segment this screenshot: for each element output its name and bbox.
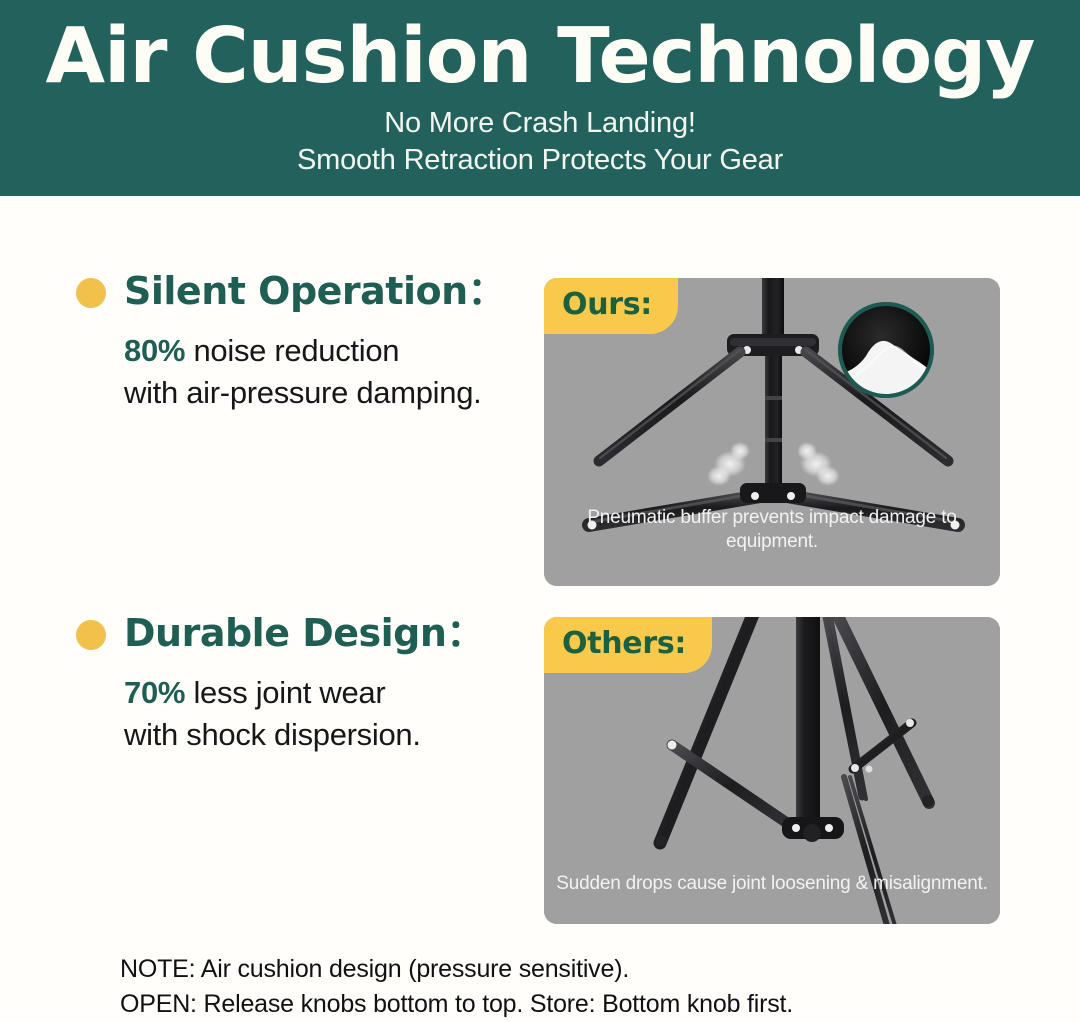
feature-description-line2: with air-pressure damping. bbox=[124, 375, 481, 410]
feature-block-silent-operation: Silent Operation： 80% noise reduction wi… bbox=[76, 268, 546, 414]
feature-heading-row: Silent Operation： bbox=[76, 268, 546, 314]
header-banner: Air Cushion Technology No More Crash Lan… bbox=[0, 0, 1080, 196]
feature-description: 70% less joint wear with shock dispersio… bbox=[124, 672, 546, 756]
header-subtitle-2: Smooth Retraction Protects Your Gear bbox=[0, 142, 1080, 179]
page-title: Air Cushion Technology bbox=[0, 0, 1080, 100]
feature-stat: 70% bbox=[124, 675, 185, 710]
footer-notes: NOTE: Air cushion design (pressure sensi… bbox=[120, 952, 980, 1022]
panel-caption: Pneumatic buffer prevents impact damage … bbox=[544, 506, 1000, 554]
header-subtitle-1: No More Crash Landing! bbox=[0, 105, 1080, 142]
feature-description: 80% noise reduction with air-pressure da… bbox=[124, 330, 546, 414]
panel-caption: Sudden drops cause joint loosening & mis… bbox=[544, 872, 1000, 896]
feature-description-line1: less joint wear bbox=[185, 675, 385, 710]
magnifier-callout bbox=[838, 302, 934, 398]
feature-block-durable-design: Durable Design： 70% less joint wear with… bbox=[76, 610, 546, 756]
comparison-panel-ours: Ours: Pneumatic buffer prevents impact d… bbox=[544, 278, 1000, 586]
feature-title: Silent Operation： bbox=[124, 268, 505, 314]
feature-heading-row: Durable Design： bbox=[76, 610, 546, 656]
footer-open-line: OPEN: Release knobs bottom to top. Store… bbox=[120, 987, 980, 1022]
feature-title: Durable Design： bbox=[124, 610, 484, 656]
dot-icon bbox=[76, 278, 106, 308]
feature-description-line1: noise reduction bbox=[185, 333, 399, 368]
feature-description-line2: with shock dispersion. bbox=[124, 717, 421, 752]
panel-badge-ours: Ours: bbox=[544, 278, 678, 334]
comparison-panel-others: Others: Sudden drops cause joint looseni… bbox=[544, 617, 1000, 924]
dot-icon bbox=[76, 620, 106, 650]
panel-badge-others: Others: bbox=[544, 617, 712, 673]
footer-note-line: NOTE: Air cushion design (pressure sensi… bbox=[120, 952, 980, 987]
feature-stat: 80% bbox=[124, 333, 185, 368]
